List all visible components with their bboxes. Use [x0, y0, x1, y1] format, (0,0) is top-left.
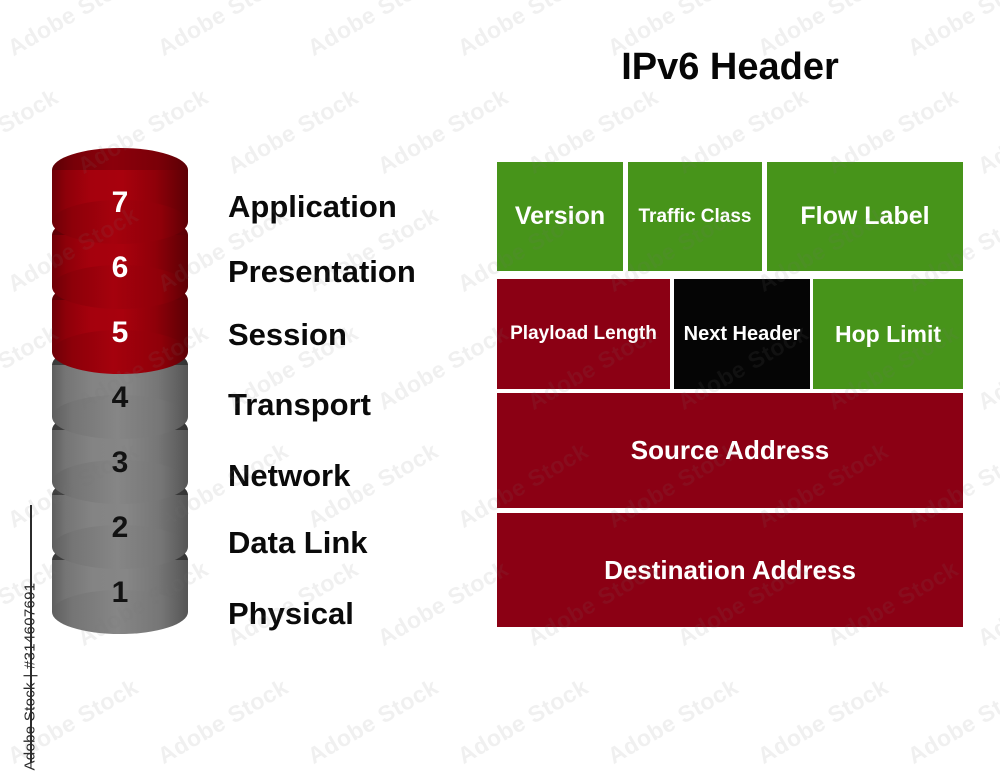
watermark-text: Adobe Stock — [153, 0, 293, 62]
ipv6-row-3: Source Address — [497, 393, 963, 508]
ipv6-field-version[interactable]: Version — [497, 162, 623, 271]
watermark-text: Adobe Stock — [973, 555, 1000, 651]
watermark-text: Adobe Stock — [153, 673, 293, 769]
osi-disc-4-number: 4 — [52, 383, 188, 413]
stock-credit: Adobe Stock | #314607691 — [0, 0, 40, 784]
ipv6-field-destination-address[interactable]: Destination Address — [497, 513, 963, 627]
ipv6-field-next-header[interactable]: Next Header — [674, 279, 810, 389]
ipv6-row-1: Version Traffic Class Flow Label — [497, 162, 963, 271]
osi-disc-1-number: 1 — [52, 578, 188, 608]
osi-disc-7[interactable]: 7 — [52, 148, 188, 245]
watermark-text: Adobe Stock — [453, 673, 593, 769]
watermark-text: Adobe Stock — [753, 673, 893, 769]
osi-disc-2-number: 2 — [52, 513, 188, 543]
ipv6-field-hop-limit[interactable]: Hop Limit — [813, 279, 963, 389]
ipv6-row-2: Playload Length Next Header Hop Limit — [497, 279, 963, 389]
ipv6-field-playload-length[interactable]: Playload Length — [497, 279, 670, 389]
ipv6-row-4: Destination Address — [497, 513, 963, 627]
ipv6-header-diagram: Version Traffic Class Flow Label Playloa… — [497, 162, 963, 627]
osi-label-presentation: Presentation — [228, 256, 416, 287]
watermark-text: Adobe Stock — [973, 319, 1000, 415]
osi-disc-3-number: 3 — [52, 448, 188, 478]
watermark-text: Adobe Stock — [603, 673, 743, 769]
watermark-text: Adobe Stock — [973, 83, 1000, 179]
osi-label-transport: Transport — [228, 389, 371, 420]
ipv6-field-flow-label[interactable]: Flow Label — [767, 162, 963, 271]
osi-disc-7-number: 7 — [52, 188, 188, 218]
osi-disc-6-number: 6 — [52, 253, 188, 283]
osi-label-network: Network — [228, 460, 350, 491]
watermark-text: Adobe Stock — [303, 673, 443, 769]
osi-label-physical: Physical — [228, 598, 354, 629]
stock-credit-text: Adobe Stock | #314607691 — [22, 511, 39, 771]
page-title: IPv6 Header — [497, 46, 963, 89]
watermark-text: Adobe Stock — [303, 0, 443, 62]
ipv6-field-traffic-class[interactable]: Traffic Class — [628, 162, 762, 271]
watermark-text: Adobe Stock — [903, 673, 1000, 769]
osi-label-application: Application — [228, 191, 397, 222]
osi-disc-5-number: 5 — [52, 318, 188, 348]
osi-model-stack: 7 6 5 4 3 2 1 — [52, 148, 188, 663]
ipv6-field-source-address[interactable]: Source Address — [497, 393, 963, 508]
osi-label-data-link: Data Link — [228, 527, 368, 558]
osi-label-session: Session — [228, 319, 347, 350]
osi-layer-labels: Application Presentation Session Transpo… — [228, 148, 478, 663]
